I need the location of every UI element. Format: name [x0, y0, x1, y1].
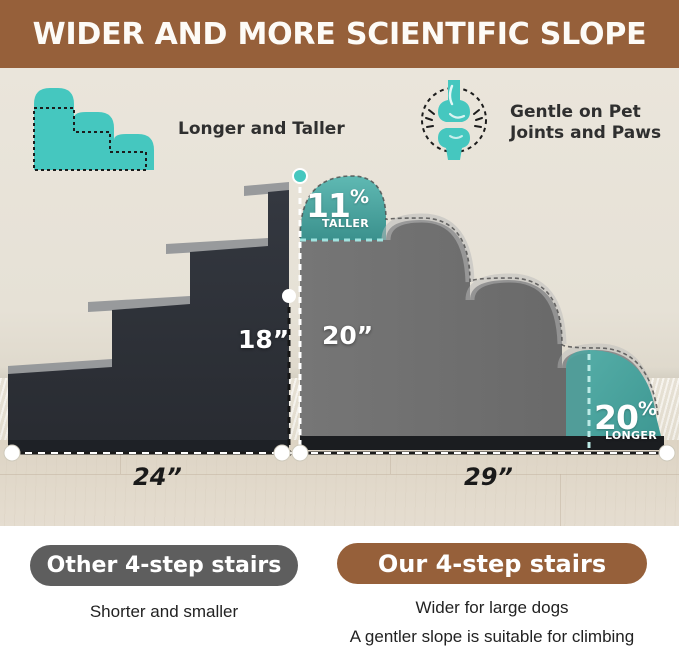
other-width-label: 24” — [133, 463, 182, 491]
our-caption-2: A gentler slope is suitable for climbing — [317, 627, 667, 647]
comparison-scene: Longer and Taller — [0, 68, 679, 526]
our-width-label: 29” — [464, 463, 513, 491]
longer-badge: 20% LONGER — [594, 398, 657, 442]
our-height-label: 20” — [322, 321, 373, 350]
other-stairs-pill[interactable]: Other 4-step stairs — [30, 545, 298, 586]
footer-comparison: Other 4-step stairs Our 4-step stairs Sh… — [0, 526, 679, 657]
header-banner: WIDER AND MORE SCIENTIFIC SLOPE — [0, 0, 679, 68]
infographic-root: WIDER AND MORE SCIENTIFIC SLOPE Longer a… — [0, 0, 679, 657]
other-stairs-shape — [8, 182, 289, 453]
other-caption-1: Shorter and smaller — [30, 602, 298, 622]
taller-badge-percent: % — [350, 186, 369, 208]
our-stairs-pill[interactable]: Our 4-step stairs — [337, 543, 647, 584]
taller-badge: 11% TALLER — [306, 186, 369, 230]
other-height-label: 18” — [238, 325, 289, 354]
longer-badge-percent: % — [638, 398, 657, 420]
stairs-illustration — [0, 68, 679, 526]
our-caption-1: Wider for large dogs — [337, 598, 647, 618]
page-title: WIDER AND MORE SCIENTIFIC SLOPE — [33, 17, 647, 52]
